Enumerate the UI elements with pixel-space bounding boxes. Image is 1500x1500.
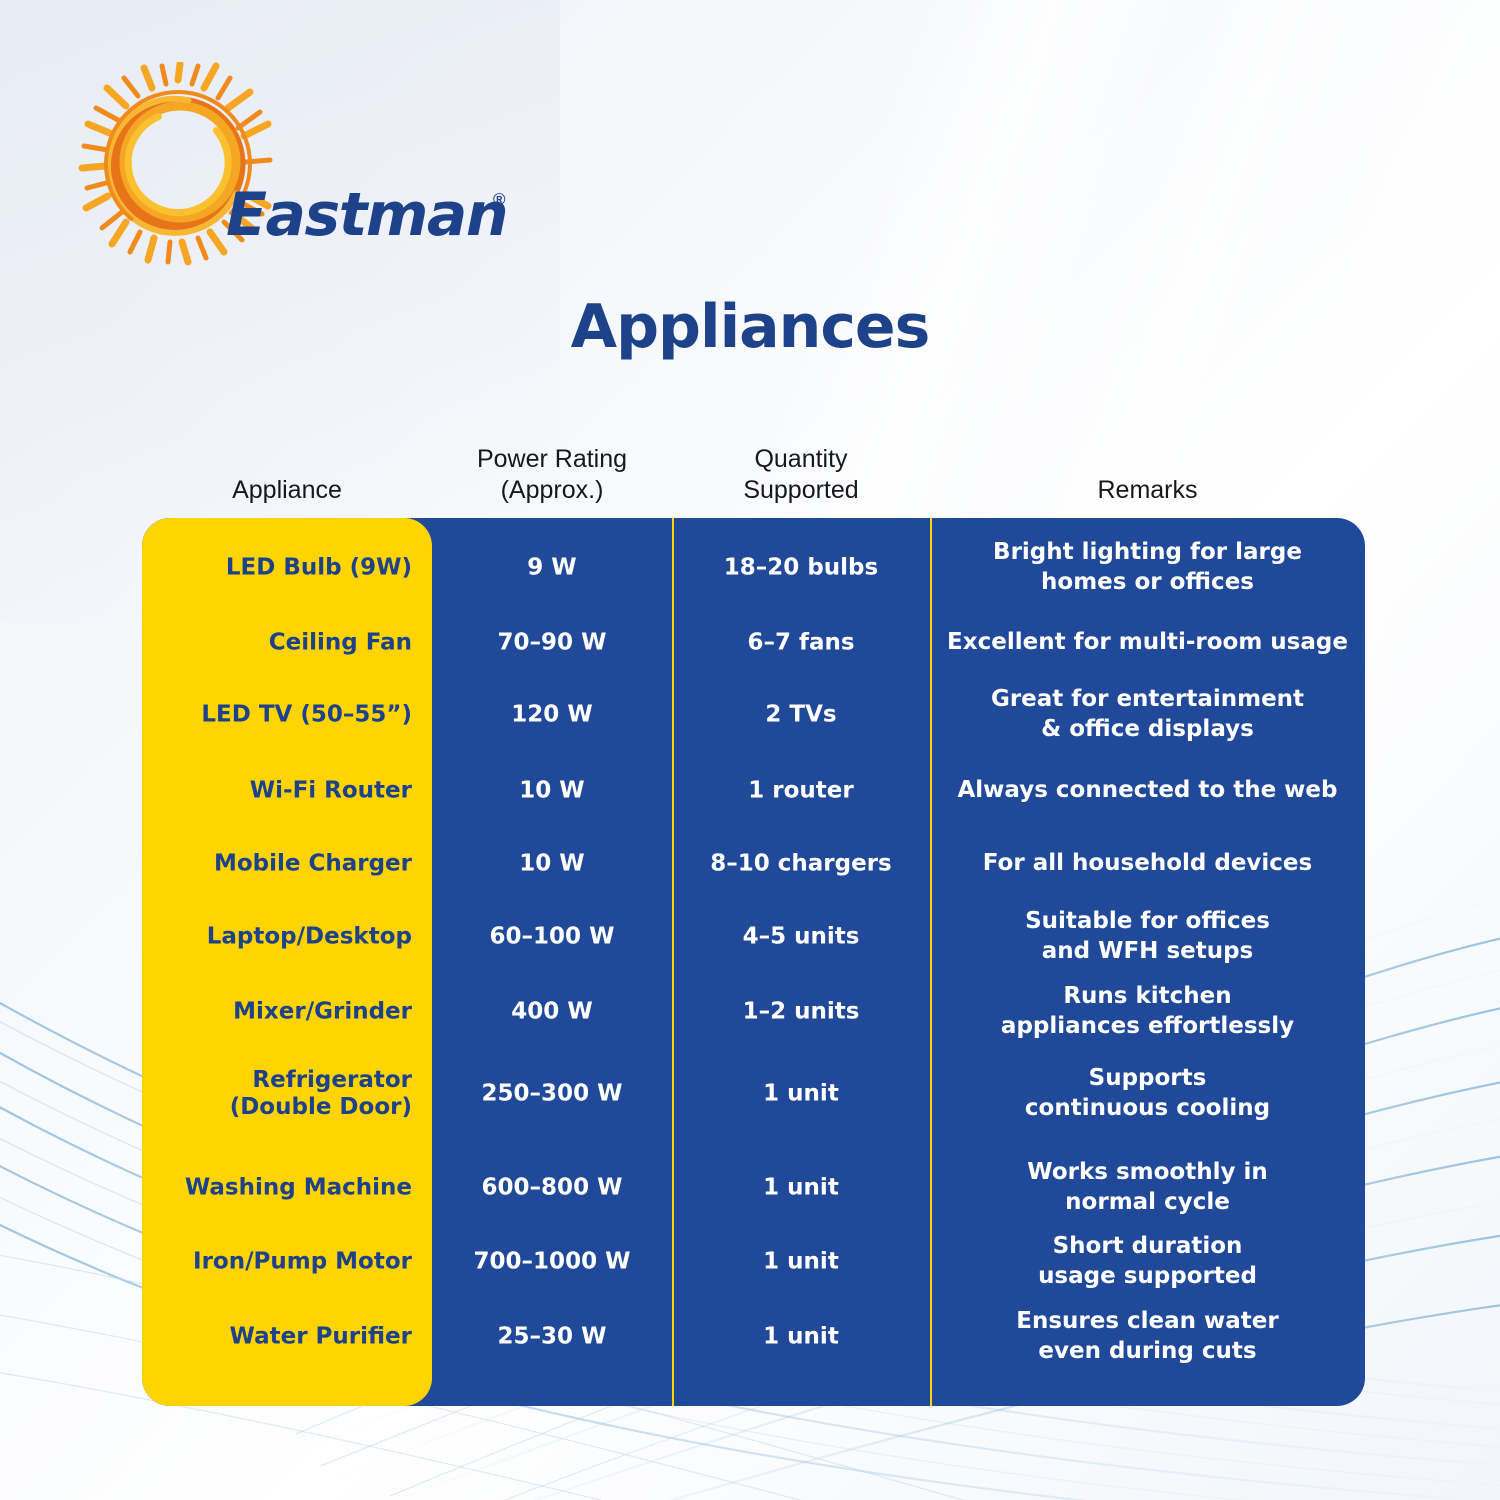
- cell-power: 60–100 W: [432, 923, 672, 950]
- cell-power: 10 W: [432, 850, 672, 877]
- appliances-table: LED Bulb (9W)9 W18–20 bulbsBright lighti…: [142, 518, 1365, 1406]
- column-header-power-line2: (Approx.): [432, 475, 672, 506]
- cell-quantity: 18–20 bulbs: [672, 554, 930, 581]
- cell-quantity: 4–5 units: [672, 923, 930, 950]
- cell-appliance: LED Bulb (9W): [142, 554, 432, 581]
- column-header-quantity: Quantity Supported: [672, 444, 930, 506]
- table-row: Washing Machine600–800 W1 unitWorks smoo…: [142, 1148, 1365, 1228]
- column-header-power-rating: Power Rating (Approx.): [432, 444, 672, 506]
- table-row: Mobile Charger10 W8–10 chargersFor all h…: [142, 824, 1365, 904]
- cell-appliance: Water Purifier: [142, 1323, 432, 1350]
- column-header-remarks: Remarks: [930, 475, 1365, 506]
- cell-appliance: LED TV (50–55”): [142, 701, 432, 728]
- table-row: Iron/Pump Motor700–1000 W1 unitShort dur…: [142, 1222, 1365, 1302]
- table-row: Water Purifier25–30 W1 unitEnsures clean…: [142, 1297, 1365, 1377]
- column-header-power-line1: Power Rating: [432, 444, 672, 475]
- table-row: Wi-Fi Router10 W1 routerAlways connected…: [142, 751, 1365, 831]
- cell-power: 120 W: [432, 701, 672, 728]
- cell-remarks: Runs kitchenappliances effortlessly: [930, 982, 1365, 1042]
- cell-remarks: Bright lighting for largehomes or office…: [930, 538, 1365, 598]
- cell-appliance: Laptop/Desktop: [142, 923, 432, 950]
- cell-quantity: 1 unit: [672, 1174, 930, 1201]
- cell-remarks: Excellent for multi-room usage: [930, 628, 1365, 658]
- cell-quantity: 1–2 units: [672, 998, 930, 1025]
- table-row: Mixer/Grinder400 W1–2 unitsRuns kitchena…: [142, 972, 1365, 1052]
- infographic-canvas: Eastman ® Appliances Appliance Power Rat…: [0, 0, 1500, 1500]
- cell-remarks: Supportscontinuous cooling: [930, 1064, 1365, 1124]
- cell-remarks: Short durationusage supported: [930, 1232, 1365, 1292]
- cell-appliance: Mixer/Grinder: [142, 998, 432, 1025]
- brand-logo: Eastman ®: [78, 62, 458, 267]
- table-row: Refrigerator(Double Door)250–300 W1 unit…: [142, 1054, 1365, 1134]
- table-row: LED Bulb (9W)9 W18–20 bulbsBright lighti…: [142, 528, 1365, 608]
- cell-power: 400 W: [432, 998, 672, 1025]
- cell-quantity: 2 TVs: [672, 701, 930, 728]
- table-body: LED Bulb (9W)9 W18–20 bulbsBright lighti…: [142, 518, 1365, 1406]
- cell-power: 250–300 W: [432, 1080, 672, 1107]
- registered-trademark-icon: ®: [493, 190, 506, 210]
- cell-quantity: 6–7 fans: [672, 629, 930, 656]
- cell-remarks: For all household devices: [930, 849, 1365, 879]
- cell-remarks: Always connected to the web: [930, 776, 1365, 806]
- cell-power: 25–30 W: [432, 1323, 672, 1350]
- cell-power: 9 W: [432, 554, 672, 581]
- cell-power: 600–800 W: [432, 1174, 672, 1201]
- cell-quantity: 1 unit: [672, 1080, 930, 1107]
- cell-appliance: Wi-Fi Router: [142, 777, 432, 804]
- table-row: LED TV (50–55”)120 W2 TVsGreat for enter…: [142, 675, 1365, 755]
- brand-name: Eastman: [226, 180, 507, 250]
- column-header-appliance: Appliance: [142, 475, 432, 506]
- cell-remarks: Great for entertainment& office displays: [930, 685, 1365, 745]
- table-column-headers: Appliance Power Rating (Approx.) Quantit…: [142, 438, 1365, 510]
- cell-quantity: 1 router: [672, 777, 930, 804]
- cell-appliance: Refrigerator(Double Door): [142, 1067, 432, 1121]
- column-header-quantity-line2: Supported: [672, 475, 930, 506]
- table-row: Ceiling Fan70–90 W6–7 fansExcellent for …: [142, 603, 1365, 683]
- table-row: Laptop/Desktop60–100 W4–5 unitsSuitable …: [142, 897, 1365, 977]
- cell-remarks: Works smoothly innormal cycle: [930, 1158, 1365, 1218]
- cell-remarks: Ensures clean watereven during cuts: [930, 1307, 1365, 1367]
- cell-power: 700–1000 W: [432, 1248, 672, 1275]
- page-title: Appliances: [0, 292, 1500, 362]
- cell-appliance: Iron/Pump Motor: [142, 1248, 432, 1275]
- cell-quantity: 8–10 chargers: [672, 850, 930, 877]
- column-header-quantity-line1: Quantity: [672, 444, 930, 475]
- cell-appliance: Ceiling Fan: [142, 629, 432, 656]
- cell-quantity: 1 unit: [672, 1248, 930, 1275]
- cell-appliance: Mobile Charger: [142, 850, 432, 877]
- cell-power: 70–90 W: [432, 629, 672, 656]
- cell-remarks: Suitable for officesand WFH setups: [930, 907, 1365, 967]
- cell-quantity: 1 unit: [672, 1323, 930, 1350]
- cell-power: 10 W: [432, 777, 672, 804]
- cell-appliance: Washing Machine: [142, 1174, 432, 1201]
